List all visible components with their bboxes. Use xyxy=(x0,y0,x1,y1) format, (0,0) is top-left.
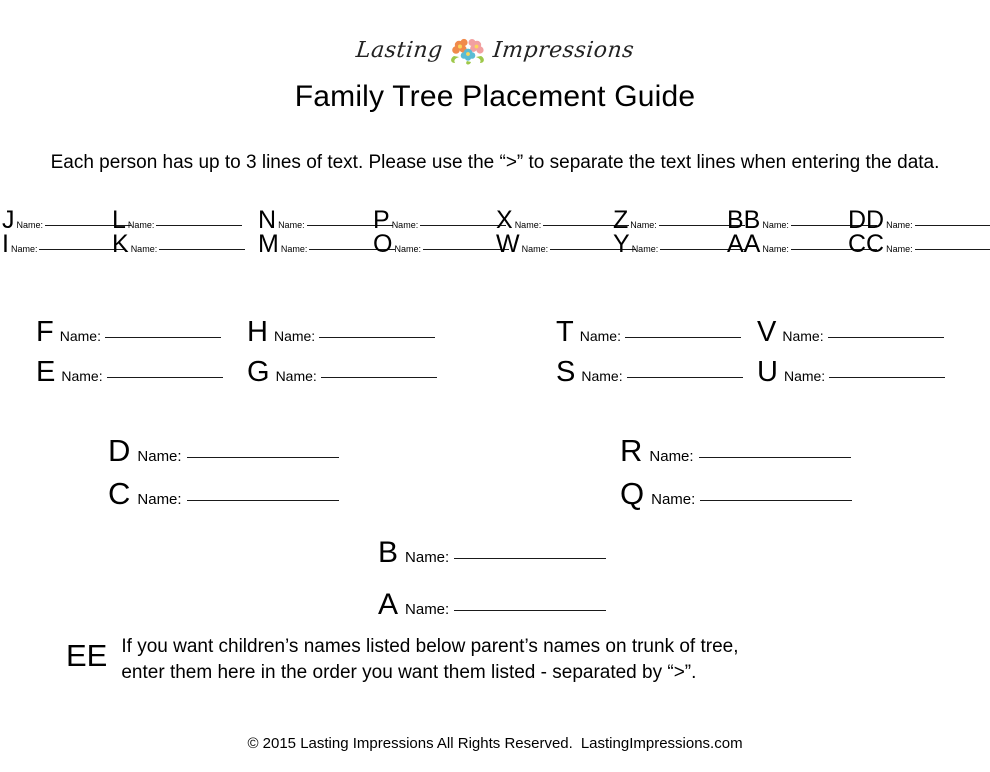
field-letter-F: F xyxy=(36,318,54,347)
name-label-BB: Name: xyxy=(762,221,789,230)
name-input-CC[interactable] xyxy=(915,249,990,250)
name-label-B: Name: xyxy=(405,550,449,565)
page-title: Family Tree Placement Guide xyxy=(0,80,990,114)
field-letter-B: B xyxy=(378,538,398,568)
website-link[interactable]: LastingImpressions.com xyxy=(581,735,743,752)
name-label-H: Name: xyxy=(274,329,315,343)
name-label-C: Name: xyxy=(137,492,181,507)
field-letter-I: I xyxy=(2,232,9,257)
flower-cluster-icon xyxy=(448,36,488,66)
name-input-C[interactable] xyxy=(187,500,339,501)
field-letter-Y: Y xyxy=(613,232,630,257)
name-input-S[interactable] xyxy=(627,377,743,378)
name-label-A: Name: xyxy=(405,602,449,617)
field-G[interactable]: G Name: xyxy=(247,358,437,387)
brand-logo: Lasting xyxy=(0,36,990,70)
name-input-V[interactable] xyxy=(828,337,944,338)
name-label-X: Name: xyxy=(515,221,542,230)
name-label-Q: Name: xyxy=(651,492,695,507)
name-input-F[interactable] xyxy=(105,337,221,338)
name-input-R[interactable] xyxy=(699,457,851,458)
field-letter-E: E xyxy=(36,358,55,387)
field-V[interactable]: V Name: xyxy=(757,318,944,347)
children-note-text: If you want children’s names listed belo… xyxy=(121,634,738,685)
brand-word-left: Lasting xyxy=(355,40,444,62)
name-label-W: Name: xyxy=(522,245,549,254)
field-P[interactable]: P Name: xyxy=(373,208,506,233)
field-letter-T: T xyxy=(556,318,574,347)
field-U[interactable]: U Name: xyxy=(757,358,945,387)
name-input-T[interactable] xyxy=(625,337,741,338)
footer: © 2015 Lasting Impressions All Rights Re… xyxy=(0,735,990,752)
name-label-M: Name: xyxy=(281,245,308,254)
name-label-AA: Name: xyxy=(762,245,789,254)
field-letter-M: M xyxy=(258,232,279,257)
field-D[interactable]: D Name: xyxy=(108,435,339,466)
field-letter-U: U xyxy=(757,358,778,387)
name-input-B[interactable] xyxy=(454,558,606,559)
name-label-T: Name: xyxy=(580,329,621,343)
name-input-L[interactable] xyxy=(156,225,242,226)
children-note-line2: enter them here in the order you want th… xyxy=(121,662,696,683)
field-letter-A: A xyxy=(378,590,398,620)
name-label-I: Name: xyxy=(11,245,38,254)
field-letter-S: S xyxy=(556,358,575,387)
field-C[interactable]: C Name: xyxy=(108,478,339,509)
field-letter-R: R xyxy=(620,435,642,466)
name-input-A[interactable] xyxy=(454,610,606,611)
field-R[interactable]: R Name: xyxy=(620,435,851,466)
name-label-K: Name: xyxy=(131,245,158,254)
field-Z[interactable]: Z Name: xyxy=(613,208,745,233)
field-letter-O: O xyxy=(373,232,392,257)
field-letter-C: C xyxy=(108,478,130,509)
field-F[interactable]: F Name: xyxy=(36,318,221,347)
name-input-U[interactable] xyxy=(829,377,945,378)
name-label-R: Name: xyxy=(649,449,693,464)
name-input-D[interactable] xyxy=(187,457,339,458)
name-label-U: Name: xyxy=(784,369,825,383)
brand-word-right: Impressions xyxy=(492,40,635,62)
name-input-E[interactable] xyxy=(107,377,223,378)
name-label-F: Name: xyxy=(60,329,101,343)
field-K[interactable]: K Name: xyxy=(112,232,245,257)
instructions-text: Each person has up to 3 lines of text. P… xyxy=(0,152,990,174)
name-label-DD: Name: xyxy=(886,221,913,230)
field-A[interactable]: A Name: xyxy=(378,590,606,620)
name-label-N: Name: xyxy=(278,221,305,230)
field-letter-AA: AA xyxy=(727,232,760,257)
name-label-P: Name: xyxy=(392,221,419,230)
name-input-G[interactable] xyxy=(321,377,437,378)
field-letter-D: D xyxy=(108,435,130,466)
name-label-S: Name: xyxy=(581,369,622,383)
name-label-Z: Name: xyxy=(630,221,657,230)
field-letter-CC: CC xyxy=(848,232,884,257)
field-letter-G: G xyxy=(247,358,270,387)
field-CC[interactable]: CC Name: xyxy=(848,232,990,257)
children-note-line1: If you want children’s names listed belo… xyxy=(121,636,738,657)
field-S[interactable]: S Name: xyxy=(556,358,743,387)
name-input-DD[interactable] xyxy=(915,225,990,226)
field-L[interactable]: L Name: xyxy=(112,208,242,233)
name-label-V: Name: xyxy=(782,329,823,343)
field-O[interactable]: O Name: xyxy=(373,232,509,257)
field-letter-W: W xyxy=(496,232,520,257)
name-label-J: Name: xyxy=(17,221,44,230)
children-note-block[interactable]: EE If you want children’s names listed b… xyxy=(66,634,739,685)
field-letter-V: V xyxy=(757,318,776,347)
name-label-CC: Name: xyxy=(886,245,913,254)
name-label-E: Name: xyxy=(61,369,102,383)
field-letter-EE: EE xyxy=(66,634,107,671)
name-input-Q[interactable] xyxy=(700,500,852,501)
name-label-D: Name: xyxy=(137,449,181,464)
field-Q[interactable]: Q Name: xyxy=(620,478,852,509)
field-T[interactable]: T Name: xyxy=(556,318,741,347)
name-label-Y: Name: xyxy=(632,245,659,254)
field-letter-K: K xyxy=(112,232,129,257)
name-label-L: Name: xyxy=(128,221,155,230)
field-E[interactable]: E Name: xyxy=(36,358,223,387)
name-input-P[interactable] xyxy=(420,225,506,226)
field-B[interactable]: B Name: xyxy=(378,538,606,568)
name-label-G: Name: xyxy=(276,369,317,383)
name-label-O: Name: xyxy=(394,245,421,254)
copyright-text: © 2015 Lasting Impressions All Rights Re… xyxy=(247,735,572,752)
field-I[interactable]: I Name: xyxy=(2,232,125,257)
name-input-K[interactable] xyxy=(159,249,245,250)
field-letter-H: H xyxy=(247,318,268,347)
field-H[interactable]: H Name: xyxy=(247,318,435,347)
field-letter-Q: Q xyxy=(620,478,644,509)
name-input-H[interactable] xyxy=(319,337,435,338)
